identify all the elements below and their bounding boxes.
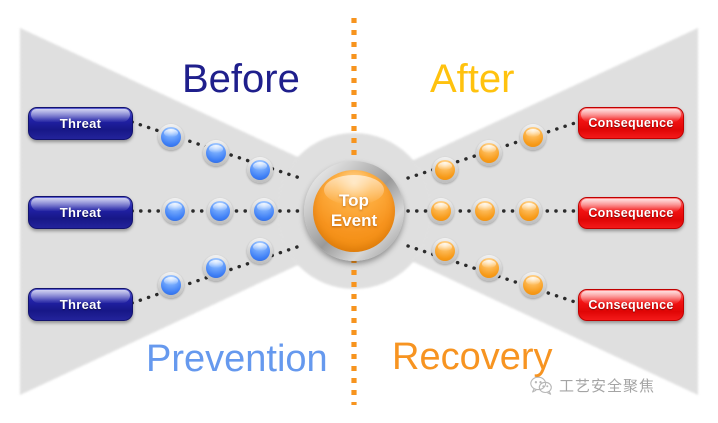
threat-box-1-label: Threat <box>60 116 102 131</box>
barrier-dot <box>479 258 499 278</box>
barrier-dot <box>435 241 455 261</box>
label-recovery: Recovery <box>392 336 553 379</box>
barrier-dot <box>206 258 226 278</box>
prevention-barrier-1-3[interactable] <box>247 157 273 183</box>
prevention-barrier-3-2[interactable] <box>203 255 229 281</box>
prevention-barrier-3-3[interactable] <box>247 238 273 264</box>
recovery-barrier-3-1[interactable] <box>432 238 458 264</box>
recovery-barrier-3-3[interactable] <box>520 272 546 298</box>
prevention-barrier-3-1[interactable] <box>158 272 184 298</box>
threat-box-3-label: Threat <box>60 297 102 312</box>
barrier-dot <box>254 201 274 221</box>
recovery-barrier-2-3[interactable] <box>516 198 542 224</box>
prevention-barrier-2-3[interactable] <box>251 198 277 224</box>
recovery-barrier-3-2[interactable] <box>476 255 502 281</box>
consequence-box-2-label: Consequence <box>588 206 673 220</box>
recovery-barrier-1-1[interactable] <box>432 157 458 183</box>
threat-box-2[interactable]: Threat <box>28 196 133 229</box>
bowtie-diagram-canvas: Threat Threat Threat Consequence Consequ… <box>0 0 718 423</box>
barrier-dot <box>519 201 539 221</box>
recovery-barrier-1-3[interactable] <box>520 124 546 150</box>
label-before: Before <box>182 57 300 102</box>
barrier-dot <box>523 127 543 147</box>
top-event-inner: Top Event <box>313 170 395 252</box>
recovery-barrier-2-2[interactable] <box>472 198 498 224</box>
label-after: After <box>430 57 514 102</box>
top-event-label-line2: Event <box>331 211 377 231</box>
barrier-dot <box>435 160 455 180</box>
wechat-icon <box>530 376 552 395</box>
top-event-label-line1: Top <box>339 191 369 211</box>
label-prevention: Prevention <box>146 338 328 381</box>
barrier-dot <box>250 160 270 180</box>
threat-box-3[interactable]: Threat <box>28 288 133 321</box>
consequence-box-1-label: Consequence <box>588 116 673 130</box>
barrier-dot <box>206 143 226 163</box>
prevention-barrier-1-1[interactable] <box>158 124 184 150</box>
barrier-dot <box>523 275 543 295</box>
consequence-box-3[interactable]: Consequence <box>578 289 684 321</box>
top-event-node[interactable]: Top Event <box>304 161 404 261</box>
barrier-dot <box>210 201 230 221</box>
threat-box-2-label: Threat <box>60 205 102 220</box>
barrier-dot <box>165 201 185 221</box>
prevention-barrier-1-2[interactable] <box>203 140 229 166</box>
consequence-box-1[interactable]: Consequence <box>578 107 684 139</box>
barrier-dot <box>475 201 495 221</box>
threat-box-1[interactable]: Threat <box>28 107 133 140</box>
watermark-text: 工艺安全聚焦 <box>559 375 655 396</box>
watermark: 工艺安全聚焦 <box>530 375 655 396</box>
barrier-dot <box>161 275 181 295</box>
recovery-barrier-2-1[interactable] <box>428 198 454 224</box>
recovery-barrier-1-2[interactable] <box>476 140 502 166</box>
consequence-box-3-label: Consequence <box>588 298 673 312</box>
prevention-barrier-2-2[interactable] <box>207 198 233 224</box>
barrier-dot <box>250 241 270 261</box>
barrier-dot <box>479 143 499 163</box>
barrier-dot <box>161 127 181 147</box>
prevention-barrier-2-1[interactable] <box>162 198 188 224</box>
consequence-box-2[interactable]: Consequence <box>578 197 684 229</box>
barrier-dot <box>431 201 451 221</box>
